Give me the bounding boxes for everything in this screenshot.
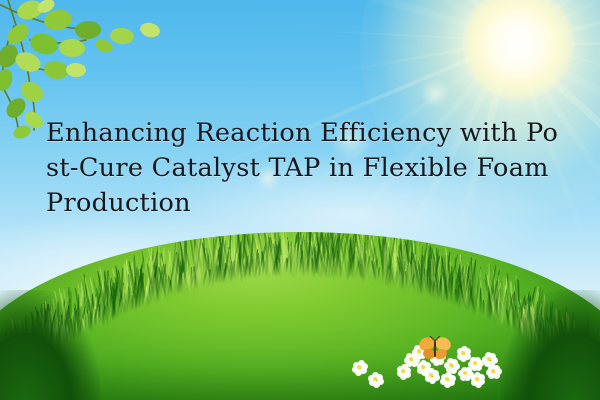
daisy-petal xyxy=(475,364,482,371)
page-title: Enhancing Reaction Efficiency with Post-… xyxy=(46,116,566,221)
grass-right-edge xyxy=(500,290,600,400)
lens-flare-dot xyxy=(420,78,450,108)
butterfly-icon xyxy=(418,336,452,366)
daisy-flower xyxy=(352,360,365,373)
grass-blade xyxy=(282,232,284,278)
daisy-flower xyxy=(396,364,409,377)
daisy-center xyxy=(373,377,377,381)
daisy-flower xyxy=(486,364,499,377)
daisy-center xyxy=(401,369,405,373)
daisy-flower xyxy=(470,372,483,385)
daisy-flower xyxy=(368,372,381,385)
banner-image: Enhancing Reaction Efficiency with Post-… xyxy=(0,0,600,400)
daisy-center xyxy=(461,351,465,355)
daisy-flower xyxy=(424,368,437,381)
daisy-center xyxy=(487,357,491,361)
daisy-center xyxy=(429,373,433,377)
grass-blade xyxy=(200,266,202,287)
daisy-flower xyxy=(440,372,453,385)
daisy-center xyxy=(445,377,449,381)
daisy-center xyxy=(475,377,479,381)
daisy-center xyxy=(463,371,467,375)
daisy-center xyxy=(409,357,413,361)
daisy-center xyxy=(473,361,477,365)
daisy-center xyxy=(491,369,495,373)
daisy-center xyxy=(357,365,361,369)
grass-left-edge xyxy=(0,290,100,400)
daisy-petal xyxy=(444,381,451,388)
